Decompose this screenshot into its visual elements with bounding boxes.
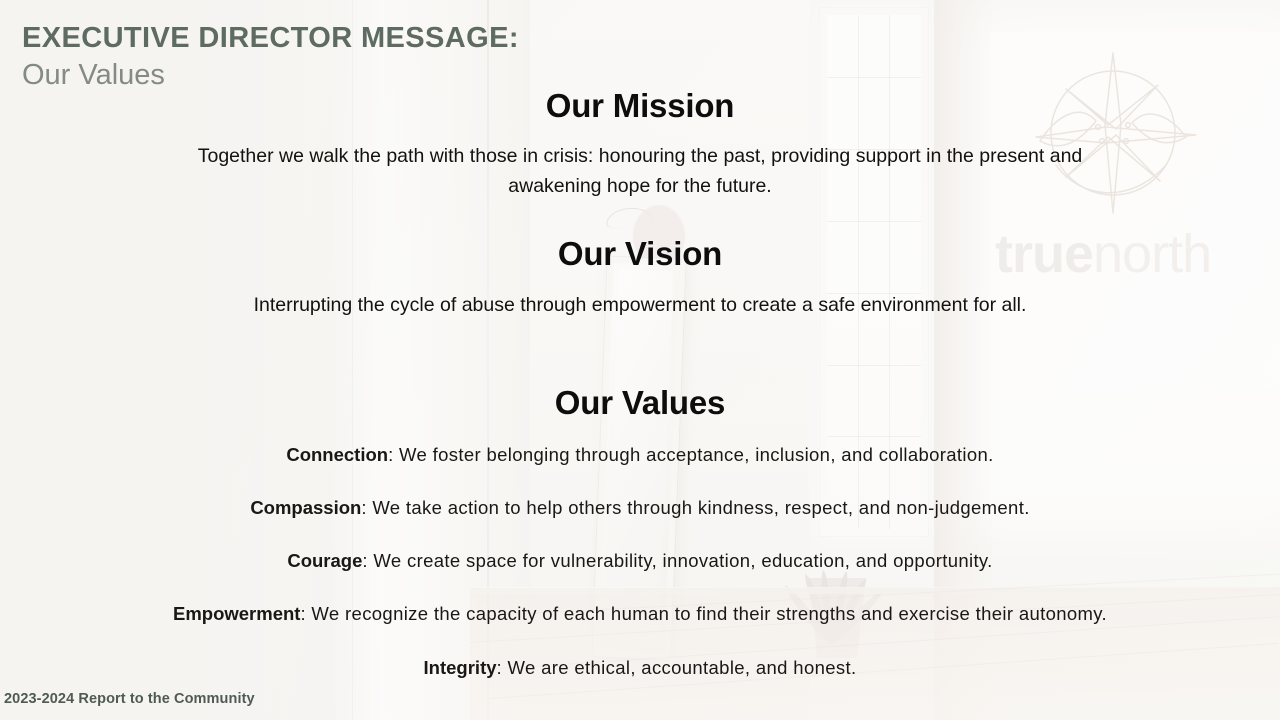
vision-heading: Our Vision bbox=[0, 235, 1280, 273]
values-heading: Our Values bbox=[0, 384, 1280, 422]
value-name: Compassion bbox=[250, 497, 361, 518]
list-item: Compassion: We take action to help other… bbox=[0, 496, 1280, 519]
value-name: Empowerment bbox=[173, 603, 300, 624]
value-description: : We recognize the capacity of each huma… bbox=[300, 603, 1107, 624]
list-item: Connection: We foster belonging through … bbox=[0, 443, 1280, 466]
value-description: : We create space for vulnerability, inn… bbox=[362, 550, 992, 571]
value-name: Integrity bbox=[424, 657, 497, 678]
slide-canvas: truenorth EXECUTIVE DIRECTOR MESSAGE: Ou… bbox=[0, 0, 1280, 720]
vision-body: Interrupting the cycle of abuse through … bbox=[225, 290, 1055, 320]
value-name: Connection bbox=[286, 444, 388, 465]
value-description: : We take action to help others through … bbox=[361, 497, 1029, 518]
slide-footer: 2023-2024 Report to the Community bbox=[4, 691, 255, 707]
list-item: Courage: We create space for vulnerabili… bbox=[0, 549, 1280, 572]
value-description: : We are ethical, accountable, and hones… bbox=[497, 657, 857, 678]
list-item: Empowerment: We recognize the capacity o… bbox=[0, 602, 1280, 625]
list-item: Integrity: We are ethical, accountable, … bbox=[0, 656, 1280, 679]
mission-body: Together we walk the path with those in … bbox=[190, 141, 1090, 201]
mission-heading: Our Mission bbox=[0, 87, 1280, 125]
value-description: : We foster belonging through acceptance… bbox=[388, 444, 994, 465]
value-name: Courage bbox=[287, 550, 362, 571]
values-list: Connection: We foster belonging through … bbox=[0, 443, 1280, 679]
slide-content: Our Mission Together we walk the path wi… bbox=[0, 0, 1280, 720]
